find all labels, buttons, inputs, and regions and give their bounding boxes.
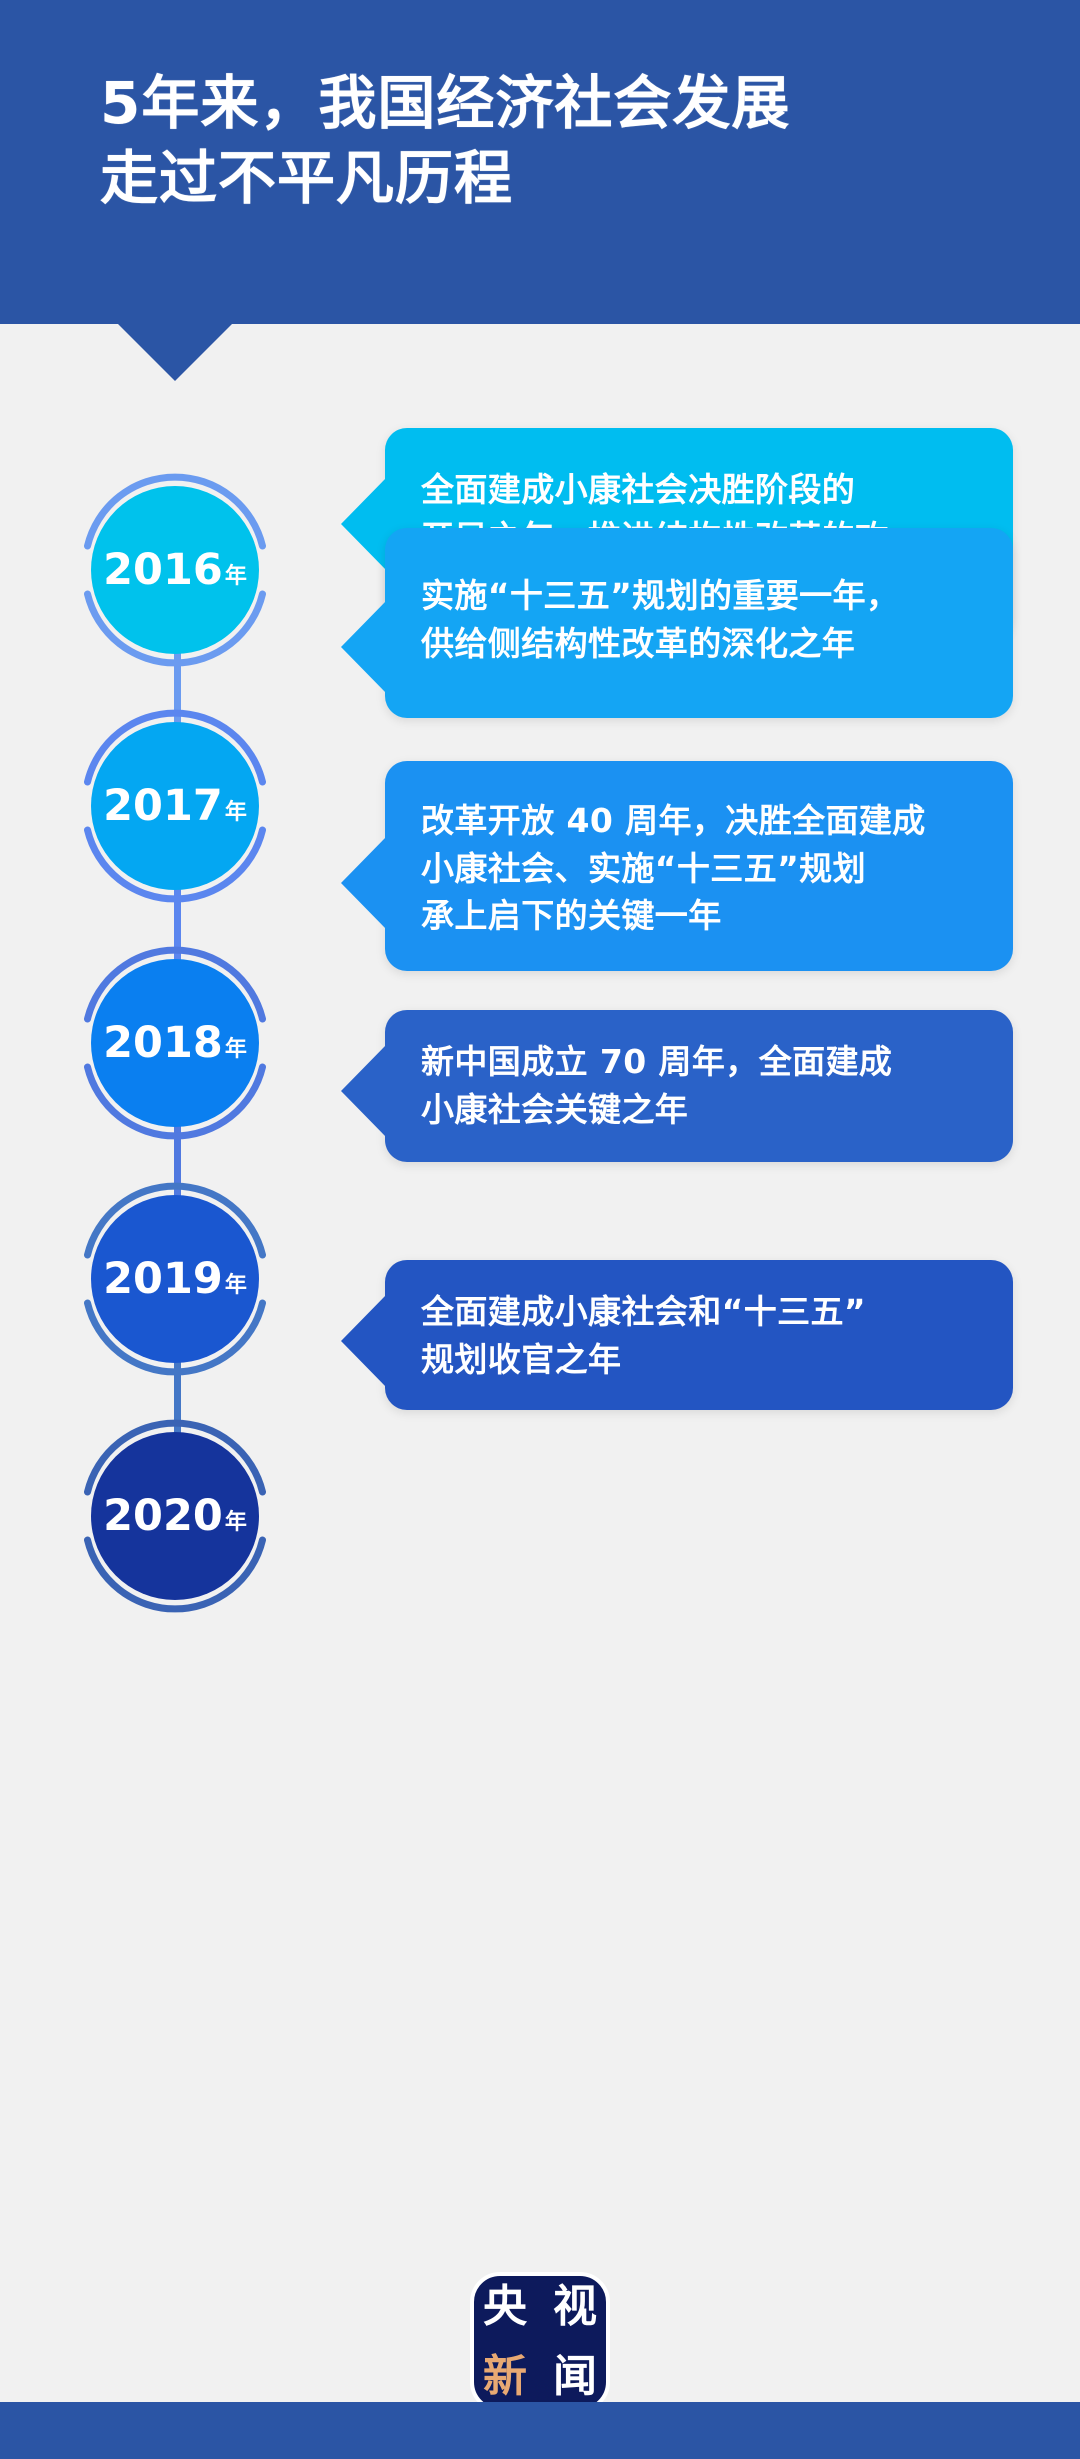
year-suffix-label: 年	[225, 1512, 247, 1534]
year-suffix-label: 年	[225, 1039, 247, 1061]
card-arrow-icon	[341, 1044, 387, 1138]
timeline: 全面建成小康社会决胜阶段的 开局之年，推进结构性改革的攻 坚之年 2016 年 …	[0, 324, 1080, 2402]
card-arrow-icon	[341, 600, 387, 694]
timeline-card-2019[interactable]: 新中国成立 70 周年，全面建成 小康社会关键之年	[385, 1010, 1013, 1162]
year-disc: 2019 年	[91, 1195, 259, 1363]
timeline-circle-2016[interactable]: 2016 年	[75, 470, 275, 670]
timeline-card-text: 新中国成立 70 周年，全面建成 小康社会关键之年	[421, 1038, 981, 1133]
year-label: 2017	[103, 785, 223, 828]
year-suffix-label: 年	[225, 566, 247, 588]
card-arrow-icon	[341, 1294, 387, 1388]
year-suffix-label: 年	[225, 802, 247, 824]
year-label: 2020	[103, 1495, 223, 1538]
timeline-card-text: 改革开放 40 周年，决胜全面建成 小康社会、实施“十三五”规划 承上启下的关键…	[421, 797, 981, 940]
year-disc: 2018 年	[91, 959, 259, 1127]
timeline-card-2018[interactable]: 改革开放 40 周年，决胜全面建成 小康社会、实施“十三五”规划 承上启下的关键…	[385, 761, 1013, 971]
timeline-card-text: 实施“十三五”规划的重要一年， 供给侧结构性改革的深化之年	[421, 572, 981, 667]
year-label: 2018	[103, 1022, 223, 1065]
year-disc: 2017 年	[91, 722, 259, 890]
timeline-card-text: 全面建成小康社会和“十三五” 规划收官之年	[421, 1288, 981, 1383]
cctv-news-logo: 央 视 新 闻	[470, 2272, 610, 2412]
timeline-circle-2017[interactable]: 2017 年	[75, 706, 275, 906]
timeline-card-2017[interactable]: 实施“十三五”规划的重要一年， 供给侧结构性改革的深化之年	[385, 528, 1013, 718]
page-title: 5年来，我国经济社会发展 走过不平凡历程	[100, 66, 1000, 217]
logo-char-shi: 视	[553, 2285, 597, 2329]
card-arrow-icon	[341, 477, 387, 571]
timeline-circle-2019[interactable]: 2019 年	[75, 1179, 275, 1379]
timeline-circle-2020[interactable]: 2020 年	[75, 1416, 275, 1616]
timeline-card-2020[interactable]: 全面建成小康社会和“十三五” 规划收官之年	[385, 1260, 1013, 1410]
year-disc: 2020 年	[91, 1432, 259, 1600]
card-arrow-icon	[341, 836, 387, 930]
year-disc: 2016 年	[91, 486, 259, 654]
logo-char-xin: 新	[483, 2355, 527, 2399]
year-label: 2019	[103, 1258, 223, 1301]
header-banner: 5年来，我国经济社会发展 走过不平凡历程	[0, 0, 1080, 324]
timeline-circle-2018[interactable]: 2018 年	[75, 943, 275, 1143]
footer-bar	[0, 2402, 1080, 2459]
year-label: 2016	[103, 549, 223, 592]
logo-char-wen: 闻	[553, 2355, 597, 2399]
year-suffix-label: 年	[225, 1275, 247, 1297]
logo-characters: 央 视 新 闻	[470, 2272, 610, 2412]
logo-char-yang: 央	[483, 2285, 527, 2329]
